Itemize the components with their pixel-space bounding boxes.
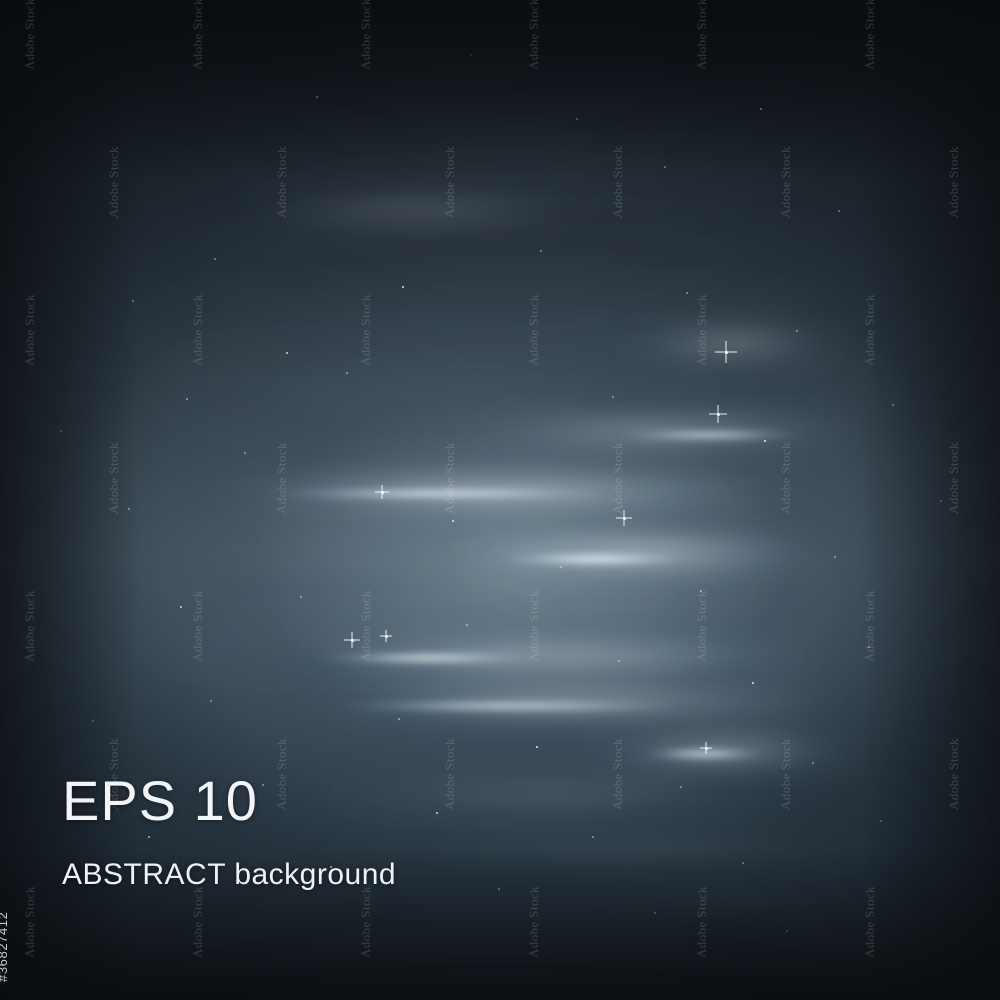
- caption-title: EPS 10: [62, 768, 258, 833]
- caption-subtitle: ABSTRACT background: [62, 858, 396, 892]
- top-shade-overlay: [0, 0, 1000, 180]
- abstract-background-image: EPS 10 ABSTRACT background Adobe StockAd…: [0, 0, 1000, 1000]
- asset-id-label: #36827412: [0, 912, 10, 982]
